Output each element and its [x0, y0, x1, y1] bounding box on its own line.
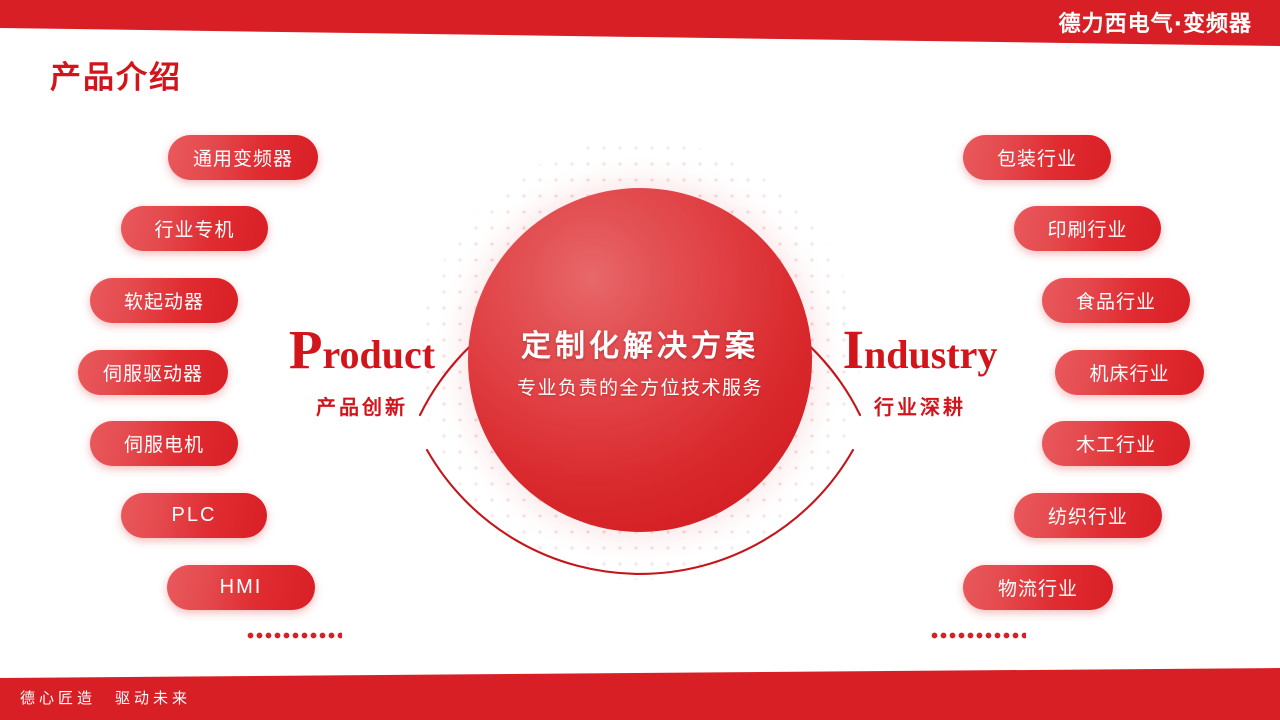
- product-heading-cn: 产品创新: [262, 391, 462, 420]
- product-heading-cap: P: [289, 319, 323, 380]
- product-pill-3[interactable]: 伺服驱动器: [78, 350, 228, 395]
- footer-slogan: 德心匠造 驱动未来: [20, 687, 191, 708]
- right-dot-divider: [930, 632, 1026, 639]
- industry-heading-cn: 行业深耕: [820, 391, 1020, 420]
- industry-pill-2[interactable]: 食品行业: [1042, 278, 1190, 323]
- industry-heading-rest: ndustry: [864, 332, 997, 377]
- page-title: 产品介绍: [50, 52, 182, 97]
- industry-heading: Industry 行业深耕: [820, 322, 1020, 420]
- product-pill-1[interactable]: 行业专机: [121, 206, 268, 251]
- industry-heading-cap: I: [843, 319, 864, 380]
- brand-logo-text: 德力西电气·变频器: [1059, 6, 1252, 38]
- industry-heading-en: Industry: [820, 322, 1020, 377]
- industry-pill-4[interactable]: 木工行业: [1042, 421, 1190, 466]
- core-circle: 定制化解决方案 专业负责的全方位技术服务: [468, 188, 812, 532]
- product-pill-0[interactable]: 通用变频器: [168, 135, 318, 180]
- product-heading: Product 产品创新: [262, 322, 462, 420]
- industry-pill-5[interactable]: 纺织行业: [1014, 493, 1162, 538]
- product-pill-4[interactable]: 伺服电机: [90, 421, 238, 466]
- slide-canvas: 德力西电气·变频器 产品介绍 定制化解决方案 专业负责的全方位技术服务 Prod…: [0, 0, 1280, 720]
- industry-pill-3[interactable]: 机床行业: [1055, 350, 1204, 395]
- core-subtitle: 专业负责的全方位技术服务: [517, 373, 763, 400]
- industry-pill-0[interactable]: 包装行业: [963, 135, 1111, 180]
- left-dot-divider: [246, 632, 342, 639]
- product-heading-rest: roduct: [323, 332, 436, 377]
- bottom-red-band: [0, 668, 1280, 720]
- core-title: 定制化解决方案: [521, 321, 759, 365]
- product-pill-2[interactable]: 软起动器: [90, 278, 238, 323]
- industry-pill-6[interactable]: 物流行业: [963, 565, 1113, 610]
- product-pill-5[interactable]: PLC: [121, 493, 267, 538]
- product-pill-6[interactable]: HMI: [167, 565, 315, 610]
- industry-pill-1[interactable]: 印刷行业: [1014, 206, 1161, 251]
- product-heading-en: Product: [262, 322, 462, 377]
